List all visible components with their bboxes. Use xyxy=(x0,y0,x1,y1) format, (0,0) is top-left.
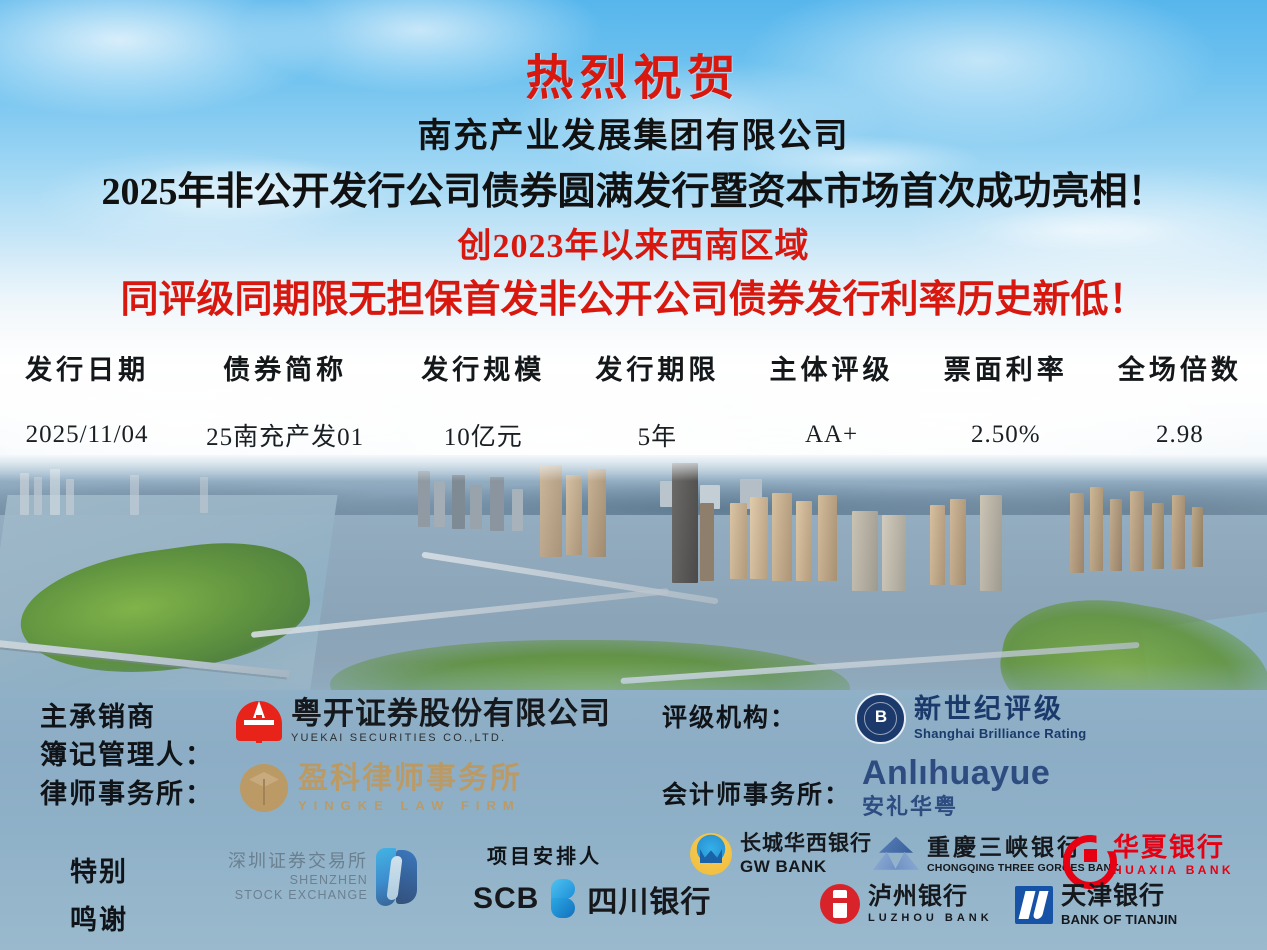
gw-bank-logo: 长城华西银行 GW BANK xyxy=(690,833,872,875)
luzhou-name-en: LUZHOU BANK xyxy=(868,913,993,924)
scb-name-cn: 四川银行 xyxy=(587,877,711,921)
tianjin-name-en: BANK OF TIANJIN xyxy=(1061,913,1177,926)
cell-issue-size: 10亿元 xyxy=(396,393,570,453)
law-firm-label: 律师事务所： xyxy=(40,772,214,811)
cell-issue-date: 2025/11/04 xyxy=(0,393,174,453)
rating-agency-label: 评级机构： xyxy=(662,698,797,734)
scb-abbrev: SCB xyxy=(473,882,539,916)
yuekai-name-en: YUEKAI SECURITIES CO.,LTD. xyxy=(291,733,611,744)
szse-emblem-icon xyxy=(376,848,418,906)
underwriter-label: 主承销商 簿记管理人： xyxy=(40,698,214,774)
bank-of-tianjin-logo: 天津银行 BANK OF TIANJIN xyxy=(1015,884,1177,926)
huaxia-mark-icon xyxy=(1063,835,1105,875)
brilliance-name-cn: 新世纪评级 xyxy=(914,696,1087,723)
szse-name-cn: 深圳证券交易所 xyxy=(228,850,368,873)
anlihuayue-logo: Anlıhuayue 安礼华粤 xyxy=(862,756,1050,818)
huaxia-bank-logo: 华夏银行 HUAXIA BANK xyxy=(1063,834,1234,876)
anlihuayue-name-en: Anlıhuayue xyxy=(862,756,1050,790)
cell-issuer-rating: AA+ xyxy=(744,393,918,453)
szse-name-en-line1: SHENZHEN xyxy=(290,873,368,889)
yingke-cube-icon xyxy=(240,764,288,812)
sichuan-bank-logo: SCB 四川银行 xyxy=(473,877,711,921)
tianjin-name-cn: 天津银行 xyxy=(1061,884,1177,909)
gw-bank-name-cn: 长城华西银行 xyxy=(740,833,872,854)
underwriter-label-line1: 主承销商 xyxy=(40,698,214,736)
cell-subscription-multiple: 2.98 xyxy=(1093,393,1267,453)
arranger-label: 项目安排人 xyxy=(487,840,602,869)
underwriter-label-line2: 簿记管理人： xyxy=(40,736,214,774)
gw-bank-name-en: GW BANK xyxy=(740,858,872,875)
headline-red-2: 同评级同期限无担保首发非公开公司债券发行利率历史新低！ xyxy=(0,268,1267,323)
huaxia-name-cn: 华夏银行 xyxy=(1113,834,1234,860)
headline-red-1: 创2023年以来西南区域 xyxy=(0,218,1267,267)
yuekai-name-cn: 粤开证券股份有限公司 xyxy=(291,698,611,729)
headline-congrats: 热烈祝贺 xyxy=(0,38,1267,108)
special-thanks-line2: 鸣谢 xyxy=(70,896,128,944)
huaxia-name-en: HUAXIA BANK xyxy=(1113,864,1234,876)
table-header-row: 发行日期 债券简称 发行规模 发行期限 主体评级 票面利率 全场倍数 xyxy=(0,348,1267,393)
brilliance-name-en: Shanghai Brilliance Rating xyxy=(914,727,1087,740)
shenzhen-stock-exchange-logo: 深圳证券交易所 SHENZHEN STOCK EXCHANGE xyxy=(228,848,418,906)
headline-company: 南充产业发展集团有限公司 xyxy=(0,108,1267,157)
shanghai-brilliance-rating-logo: B 新世纪评级 Shanghai Brilliance Rating xyxy=(855,692,1087,744)
cell-coupon-rate: 2.50% xyxy=(919,393,1093,453)
cell-bond-name: 25南充产发01 xyxy=(174,393,396,453)
special-thanks-label: 特别 鸣谢 xyxy=(70,848,128,944)
audit-firm-label: 会计师事务所： xyxy=(662,775,851,811)
congratulations-poster: 热烈祝贺 南充产业发展集团有限公司 2025年非公开发行公司债券圆满发行暨资本市… xyxy=(0,0,1267,950)
col-issue-size: 发行规模 xyxy=(396,348,570,393)
luzhou-mark-icon xyxy=(820,884,860,924)
col-issue-term: 发行期限 xyxy=(570,348,744,393)
tianjin-mark-icon xyxy=(1015,886,1053,924)
col-bond-name: 债券简称 xyxy=(174,348,396,393)
yingke-law-firm-logo: 盈科律师事务所 YINGKE LAW FIRM xyxy=(240,760,522,816)
three-gorges-mark-icon xyxy=(873,837,919,873)
col-coupon-rate: 票面利率 xyxy=(919,348,1093,393)
anlihuayue-name-cn: 安礼华粤 xyxy=(862,796,1050,818)
gw-bank-mark-icon xyxy=(690,833,732,875)
scb-droplet-icon xyxy=(547,879,579,919)
col-issuer-rating: 主体评级 xyxy=(744,348,918,393)
yingke-name-cn: 盈科律师事务所 xyxy=(298,764,522,794)
headline-main: 2025年非公开发行公司债券圆满发行暨资本市场首次成功亮相！ xyxy=(0,160,1267,215)
cell-issue-term: 5年 xyxy=(570,393,744,453)
luzhou-name-cn: 泸州银行 xyxy=(868,885,993,909)
col-subscription-multiple: 全场倍数 xyxy=(1093,348,1267,393)
brilliance-seal-icon: B xyxy=(855,693,906,744)
yuekai-securities-logo: 粤开证券股份有限公司 YUEKAI SECURITIES CO.,LTD. xyxy=(236,694,611,748)
table-row: 2025/11/04 25南充产发01 10亿元 5年 AA+ 2.50% 2.… xyxy=(0,393,1267,453)
bond-summary-table: 发行日期 债券简称 发行规模 发行期限 主体评级 票面利率 全场倍数 2025/… xyxy=(0,348,1267,453)
photo-top-fade xyxy=(0,455,1267,481)
szse-name-en-line2: STOCK EXCHANGE xyxy=(235,888,368,904)
brilliance-seal-letter: B xyxy=(857,707,904,727)
luzhou-bank-logo: 泸州银行 LUZHOU BANK xyxy=(820,884,993,924)
yuekai-mark-icon xyxy=(236,698,282,744)
special-thanks-line1: 特别 xyxy=(70,848,128,896)
col-issue-date: 发行日期 xyxy=(0,348,174,393)
yingke-name-en: YINGKE LAW FIRM xyxy=(298,799,522,812)
